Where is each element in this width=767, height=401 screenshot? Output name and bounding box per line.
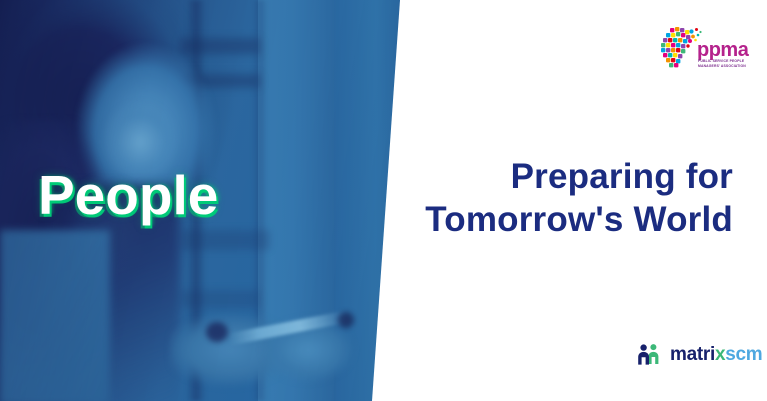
matrix-wordmark: matrixscm [670, 345, 762, 364]
headline: Preparing for Tomorrow's World [303, 156, 733, 241]
ppma-logo: ppma PUBLIC SERVICE PEOPLE MANAGERS' ASS… [657, 18, 762, 76]
matrix-wordmark-dark: matri [670, 344, 715, 365]
ppma-subtitle: PUBLIC SERVICE PEOPLE MANAGERS' ASSOCIAT… [698, 59, 762, 69]
ppma-wordmark: ppma [697, 40, 748, 60]
two-people-icon [637, 343, 663, 365]
headline-line-1: Preparing for [303, 156, 733, 199]
matrix-wordmark-light: scm [725, 344, 762, 365]
headline-line-2: Tomorrow's World [303, 199, 733, 242]
marketing-banner: People Preparing for Tomorrow's World [0, 0, 767, 401]
photo-caption-people: People [38, 168, 218, 223]
matrix-scm-logo: matrixscm [637, 341, 762, 367]
ppma-subtitle-line-2: MANAGERS' ASSOCIATION [698, 64, 762, 69]
matrix-wordmark-x: x [715, 344, 725, 365]
